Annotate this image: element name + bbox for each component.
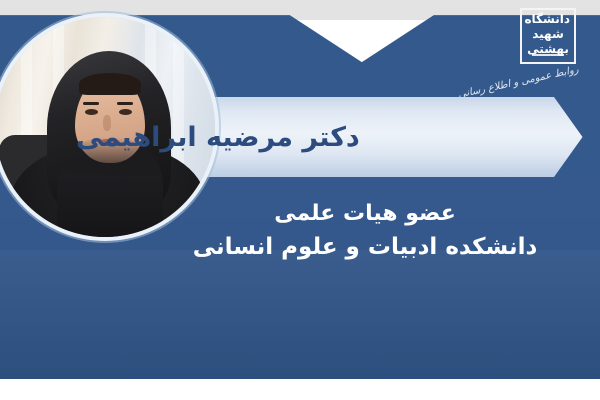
logo-line-1: دانشگاه <box>526 12 570 26</box>
announcement-poster: دانشگاه شهید بهشتی روابط عمومی و اطلاع ر… <box>0 0 600 400</box>
logo-underbar <box>532 54 564 56</box>
panel-sheen <box>0 250 600 379</box>
logo-line-2: شهید <box>526 27 570 41</box>
person-hair <box>79 73 141 95</box>
university-logo: دانشگاه شهید بهشتی روابط عمومی و اطلاع ر… <box>496 6 582 88</box>
logo-frame-icon: دانشگاه شهید بهشتی <box>520 8 576 64</box>
person-name: دکتر مرضیه ابراهیمی <box>76 97 576 177</box>
